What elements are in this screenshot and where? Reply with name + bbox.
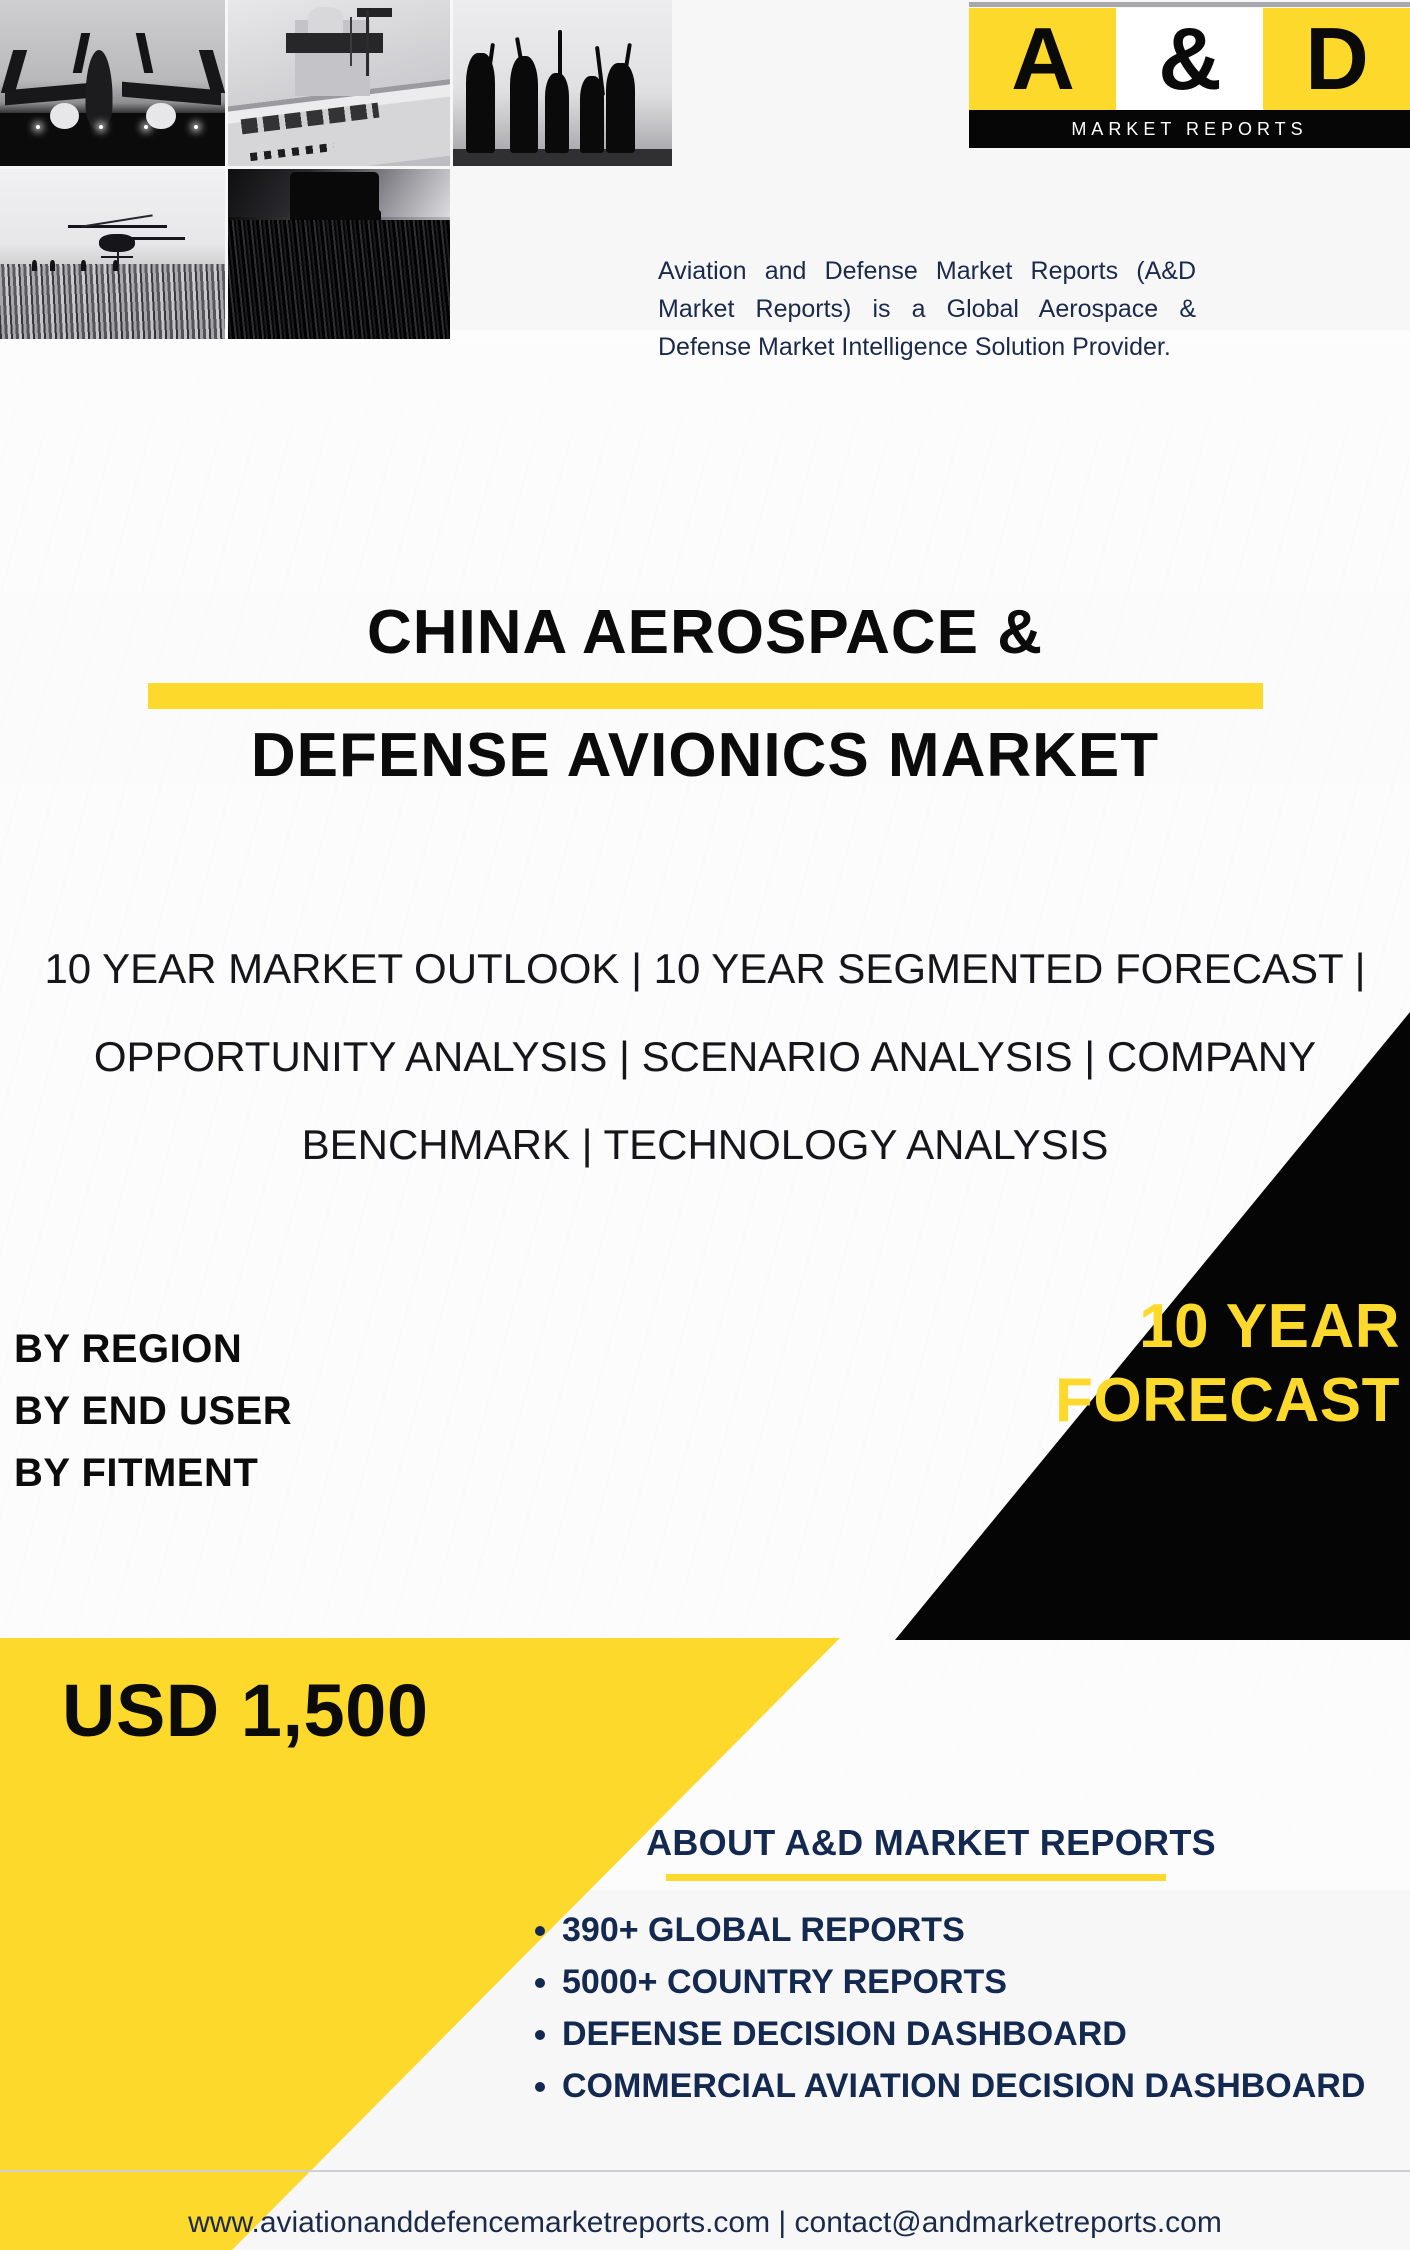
report-title-line1: CHINA AEROSPACE &	[0, 600, 1410, 665]
title-yellow-rule	[148, 683, 1263, 709]
forecast-badge-line1: 10 YEAR	[700, 1290, 1400, 1364]
logo-letter-ampersand: &	[1116, 8, 1263, 110]
segmentation-item-fitment: BY FITMENT	[14, 1442, 534, 1504]
forecast-badge: 10 YEAR FORECAST	[700, 1290, 1400, 1438]
aircraft-carrier-photo	[228, 0, 450, 166]
intro-paragraph: Aviation and Defense Market Reports (A&D…	[658, 252, 1196, 366]
list-item: DEFENSE DECISION DASHBOARD	[562, 2013, 1396, 2055]
about-yellow-rule	[666, 1874, 1166, 1881]
about-heading: ABOUT A&D MARKET REPORTS	[466, 1822, 1396, 1864]
poster-root: A & D MARKET REPORTS Aviation and Defens…	[0, 0, 1410, 2250]
about-section: ABOUT A&D MARKET REPORTS 390+ GLOBAL REP…	[466, 1822, 1396, 2117]
logo-letters: A & D	[969, 8, 1410, 110]
segmentation-list: BY REGION BY END USER BY FITMENT	[14, 1318, 534, 1504]
logo-letter-d: D	[1263, 8, 1410, 110]
report-title-line2: DEFENSE AVIONICS MARKET	[0, 723, 1410, 788]
logo-letter-a: A	[969, 8, 1116, 110]
logo-subtitle-bar: MARKET REPORTS	[969, 110, 1410, 148]
helicopter-photo	[0, 169, 225, 339]
report-subtitle: 10 YEAR MARKET OUTLOOK | 10 YEAR SEGMENT…	[40, 925, 1370, 1189]
list-item: 5000+ COUNTRY REPORTS	[562, 1961, 1396, 2003]
brand-logo: A & D MARKET REPORTS	[969, 2, 1410, 148]
footer-contact: www.aviationanddefencemarketreports.com …	[0, 2206, 1410, 2240]
price-value: USD 1,500	[62, 1668, 428, 1753]
logo-top-rule	[969, 2, 1410, 7]
segmentation-item-region: BY REGION	[14, 1318, 534, 1380]
list-item: 390+ GLOBAL REPORTS	[562, 1909, 1396, 1951]
logo-subtitle-text: MARKET REPORTS	[1071, 119, 1307, 140]
armored-vehicle-photo	[228, 169, 450, 339]
footer-divider	[0, 2170, 1410, 2172]
forecast-badge-line2: FORECAST	[700, 1364, 1400, 1438]
soldiers-photo	[453, 0, 672, 166]
list-item: COMMERCIAL AVIATION DECISION DASHBOARD	[562, 2065, 1396, 2107]
report-title: CHINA AEROSPACE & DEFENSE AVIONICS MARKE…	[0, 600, 1410, 788]
fighter-jet-photo	[0, 0, 225, 166]
segmentation-item-end-user: BY END USER	[14, 1380, 534, 1442]
about-bullet-list: 390+ GLOBAL REPORTS 5000+ COUNTRY REPORT…	[466, 1909, 1396, 2107]
